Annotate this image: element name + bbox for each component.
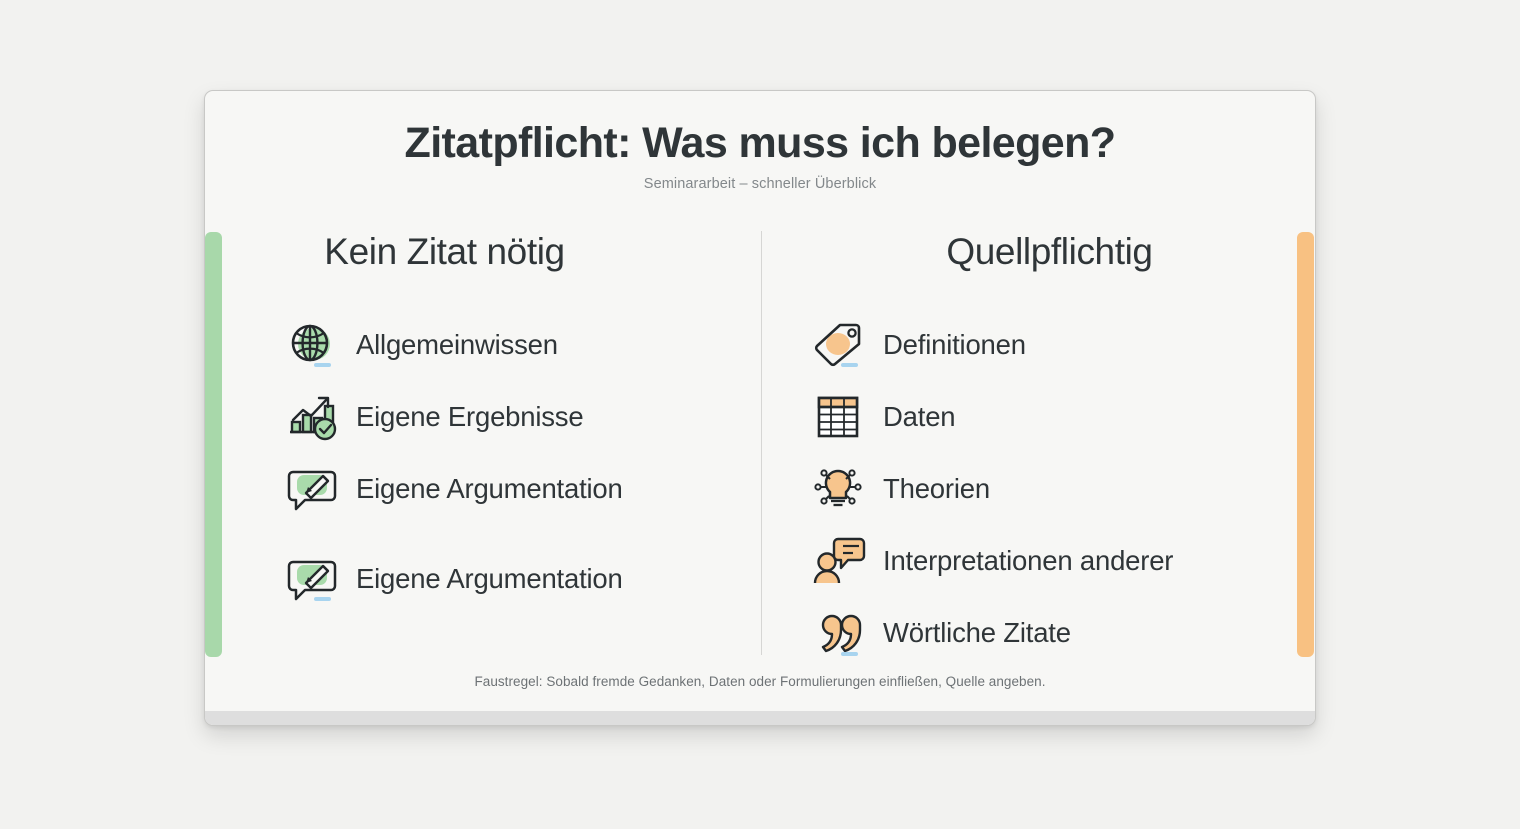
list-item[interactable]: Theorien <box>810 463 1315 515</box>
list-item-label: Eigene Argumentation <box>356 563 623 595</box>
columns-container: Kein Zitat nötig <box>205 231 1315 679</box>
list-item[interactable]: Eigene Ergebnisse <box>283 391 760 443</box>
list-item-label: Definitionen <box>883 329 1026 361</box>
bar-chart-check-icon <box>283 391 341 443</box>
list-item-label: Eigene Argumentation <box>356 473 623 505</box>
list-item-label: Interpretationen anderer <box>883 545 1173 577</box>
lightbulb-icon <box>810 463 868 515</box>
list-item-label: Wörtliche Zitate <box>883 617 1071 649</box>
list-item[interactable]: Daten <box>810 391 1315 443</box>
table-grid-icon <box>810 391 868 443</box>
list-item-label: Eigene Ergebnisse <box>356 401 583 433</box>
list-item[interactable]: Interpretationen anderer <box>810 535 1315 587</box>
list-item-label: Allgemeinwissen <box>356 329 558 361</box>
column-right-title: Quellpflichtig <box>760 231 1315 273</box>
slide-card: Zitatpflicht: Was muss ich belegen? Semi… <box>204 90 1316 726</box>
tag-icon <box>810 319 868 371</box>
list-item[interactable]: Eigene Argumentation <box>283 463 760 515</box>
column-left-title: Kein Zitat nötig <box>205 231 760 273</box>
column-kein-zitat-noetig: Kein Zitat nötig <box>205 231 760 679</box>
column-quellpflichtig: Quellpflichtig Definitionen <box>760 231 1315 679</box>
column-right-item-list: Definitionen <box>760 319 1315 659</box>
person-speech-bubble-icon <box>810 535 868 587</box>
quotation-marks-icon <box>810 607 868 659</box>
speech-bubble-pencil-icon <box>283 463 341 515</box>
footer-note: Faustregel: Sobald fremde Gedanken, Date… <box>205 674 1315 689</box>
list-item[interactable]: Eigene Argumentation <box>283 553 760 605</box>
page-title: Zitatpflicht: Was muss ich belegen? <box>205 119 1315 167</box>
list-item[interactable]: Allgemeinwissen <box>283 319 760 371</box>
accent-bar-left <box>205 232 222 657</box>
card-footer-bar <box>205 711 1315 725</box>
accent-bar-right <box>1297 232 1314 657</box>
list-item-label: Daten <box>883 401 955 433</box>
column-left-item-list: Allgemeinwissen <box>205 319 760 605</box>
globe-icon <box>283 319 341 371</box>
list-item[interactable]: Wörtliche Zitate <box>810 607 1315 659</box>
list-item-label: Theorien <box>883 473 990 505</box>
speech-bubble-pencil-icon <box>283 553 341 605</box>
slide-header: Zitatpflicht: Was muss ich belegen? Semi… <box>205 119 1315 192</box>
page-subtitle: Seminararbeit – schneller Überblick <box>205 176 1315 192</box>
list-item[interactable]: Definitionen <box>810 319 1315 371</box>
